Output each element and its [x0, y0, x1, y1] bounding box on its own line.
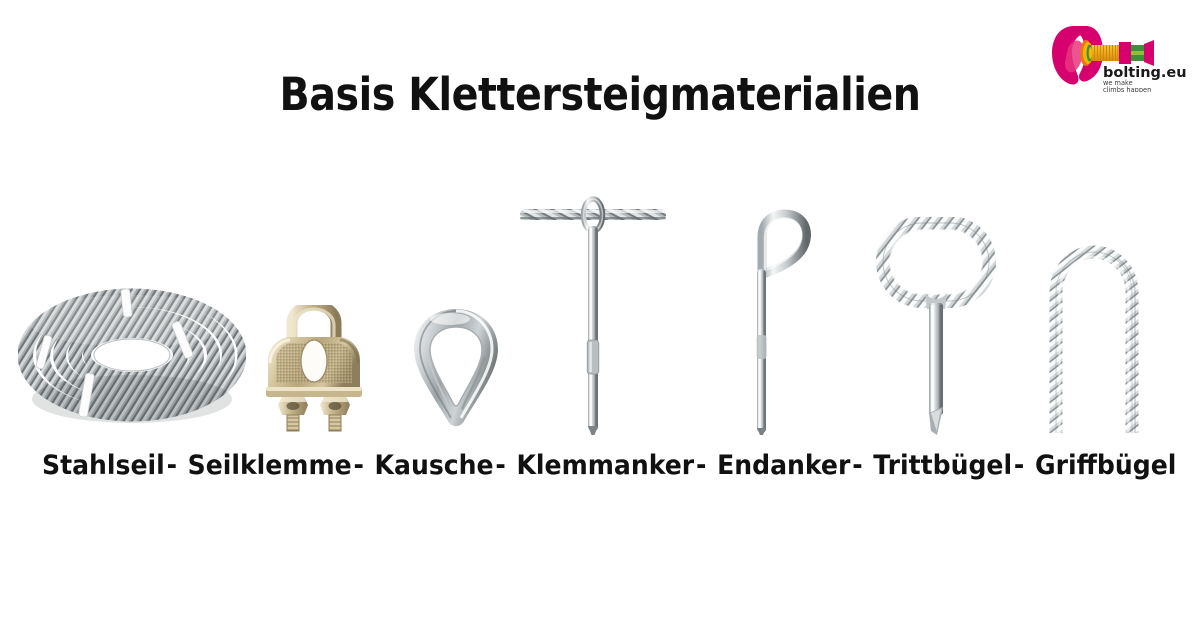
logo-tagline-line2: climbs happen — [1103, 86, 1151, 92]
caption-item-stahlseil: Stahlseil — [42, 450, 165, 481]
step-stirrup-icon — [883, 223, 989, 435]
steel-wire-rope-coil-icon — [20, 289, 244, 423]
caption-separator: - — [352, 450, 366, 481]
product-image-seilklemme — [256, 305, 372, 435]
clamp-anchor-icon — [520, 199, 666, 435]
product-image-stahlseil — [18, 275, 246, 435]
wire-rope-clip-icon — [266, 305, 362, 431]
hex-nut-icon — [278, 397, 308, 415]
caption-separator: - — [494, 450, 508, 481]
caption-item-kausche: Kausche — [375, 450, 494, 481]
caption-separator: - — [694, 450, 708, 481]
rope-thimble-icon — [414, 309, 498, 426]
page-title: Basis Klettersteigmaterialien — [72, 68, 1128, 121]
product-image-kausche — [406, 305, 506, 435]
infographic-page: Basis Klettersteigmaterialien — [0, 0, 1200, 627]
product-image-trittbuegel — [875, 217, 997, 435]
product-image-endanker — [735, 207, 827, 435]
bolting-eu-logo[interactable]: bolting.eu we make climbs happen — [1046, 20, 1192, 92]
caption-separator: - — [165, 450, 179, 481]
caption-item-seilklemme: Seilklemme — [188, 450, 352, 481]
steel-cable-icon — [520, 209, 666, 220]
product-image-klemmanker — [518, 190, 668, 435]
caption-item-trittbuegel: Trittbügel — [873, 450, 1012, 481]
caption-separator: - — [850, 450, 864, 481]
bolt-thread-icon — [287, 415, 341, 431]
product-image-strip — [0, 170, 1200, 435]
grab-handle-icon — [1056, 252, 1135, 433]
caption-labels: Stahlseil- Seilklemme- Kausche- Klemmank… — [42, 450, 1158, 481]
hex-nut-icon — [320, 397, 350, 415]
caption-separator: - — [1012, 450, 1026, 481]
caption-item-griffbuegel: Griffbügel — [1035, 450, 1176, 481]
product-image-griffbuegel — [1038, 230, 1150, 435]
caption-item-klemmanker: Klemmanker — [516, 450, 694, 481]
end-anchor-icon — [757, 214, 807, 435]
caption-item-endanker: Endanker — [717, 450, 850, 481]
